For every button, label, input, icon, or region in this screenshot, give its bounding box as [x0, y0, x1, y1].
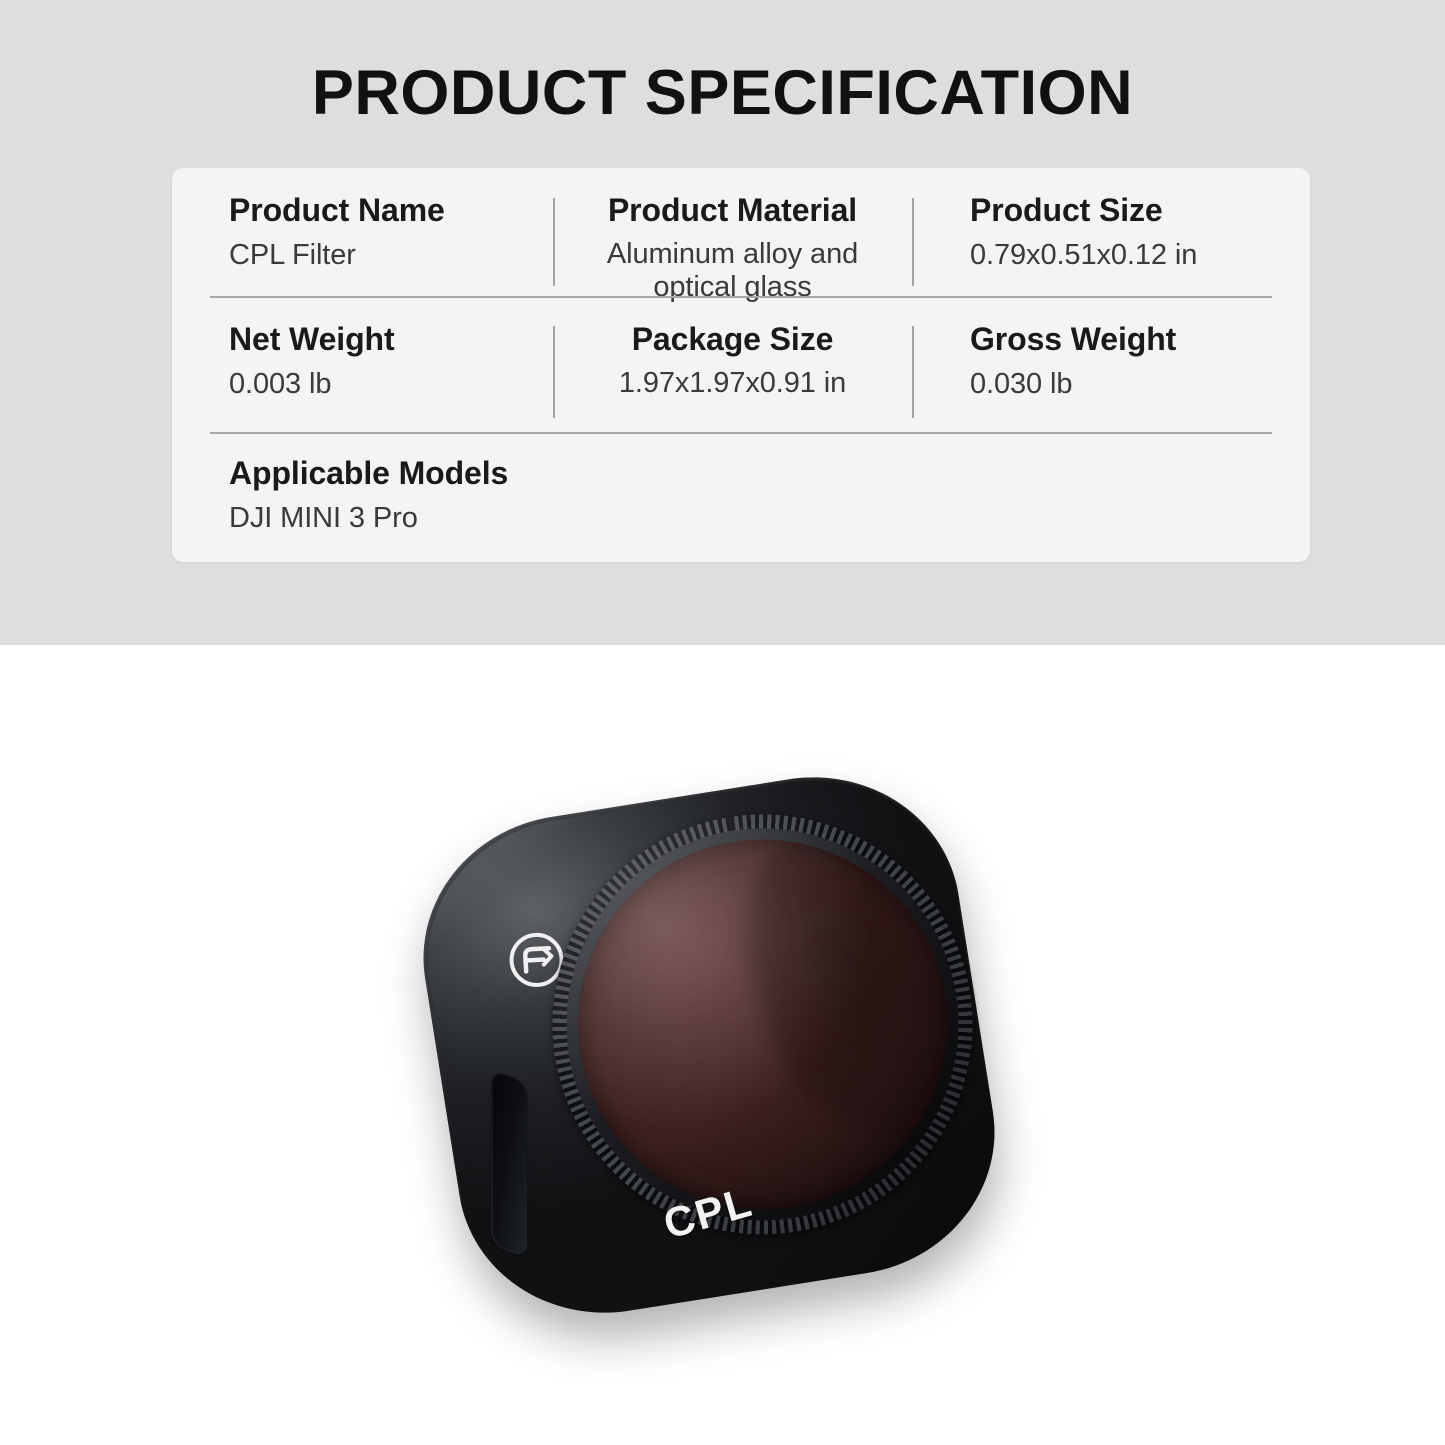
column-divider — [553, 198, 555, 286]
spec-label: Gross Weight — [970, 321, 1310, 359]
filter-body: CPL — [403, 756, 1015, 1334]
filter-mount-slot — [491, 1069, 527, 1258]
page-title: PRODUCT SPECIFICATION — [0, 57, 1445, 129]
spec-value: Aluminum alloy and optical glass — [563, 238, 902, 304]
optical-glass — [551, 813, 974, 1236]
column-divider — [553, 326, 555, 418]
spec-cell-applicable-models: Applicable Models DJI MINI 3 Pro — [172, 433, 1310, 562]
spec-cell-product-size: Product Size 0.79x0.51x0.12 in — [912, 168, 1310, 297]
spec-value: DJI MINI 3 Pro — [229, 501, 1310, 536]
spec-value: 0.030 lb — [970, 367, 1310, 402]
table-row: Applicable Models DJI MINI 3 Pro — [172, 433, 1310, 562]
row-divider — [210, 432, 1272, 434]
row-divider — [210, 296, 1272, 298]
spec-cell-product-material: Product Material Aluminum alloy and opti… — [553, 168, 912, 297]
spec-cell-product-name: Product Name CPL Filter — [172, 168, 553, 297]
table-row: Net Weight 0.003 lb Package Size 1.97x1.… — [172, 297, 1310, 433]
spec-cell-net-weight: Net Weight 0.003 lb — [172, 297, 553, 433]
specification-card: Product Name CPL Filter Product Material… — [172, 168, 1310, 562]
spec-cell-gross-weight: Gross Weight 0.030 lb — [912, 297, 1310, 433]
column-divider — [912, 326, 914, 418]
spec-value: 0.79x0.51x0.12 in — [970, 238, 1310, 273]
product-photo-area: CPL — [0, 645, 1445, 1445]
spec-value: CPL Filter — [229, 238, 553, 273]
spec-label: Applicable Models — [229, 455, 1310, 493]
spec-label: Package Size — [563, 321, 902, 359]
specification-band: PRODUCT SPECIFICATION Product Name CPL F… — [0, 0, 1445, 645]
spec-label: Product Name — [229, 192, 553, 230]
product-image: CPL — [404, 755, 1044, 1315]
spec-value: 0.003 lb — [229, 367, 553, 402]
column-divider — [912, 198, 914, 286]
table-row: Product Name CPL Filter Product Material… — [172, 168, 1310, 297]
spec-value: 1.97x1.97x0.91 in — [563, 367, 902, 400]
spec-label: Product Size — [970, 192, 1310, 230]
spec-cell-package-size: Package Size 1.97x1.97x0.91 in — [553, 297, 912, 433]
spec-label: Net Weight — [229, 321, 553, 359]
spec-label: Product Material — [563, 192, 902, 230]
